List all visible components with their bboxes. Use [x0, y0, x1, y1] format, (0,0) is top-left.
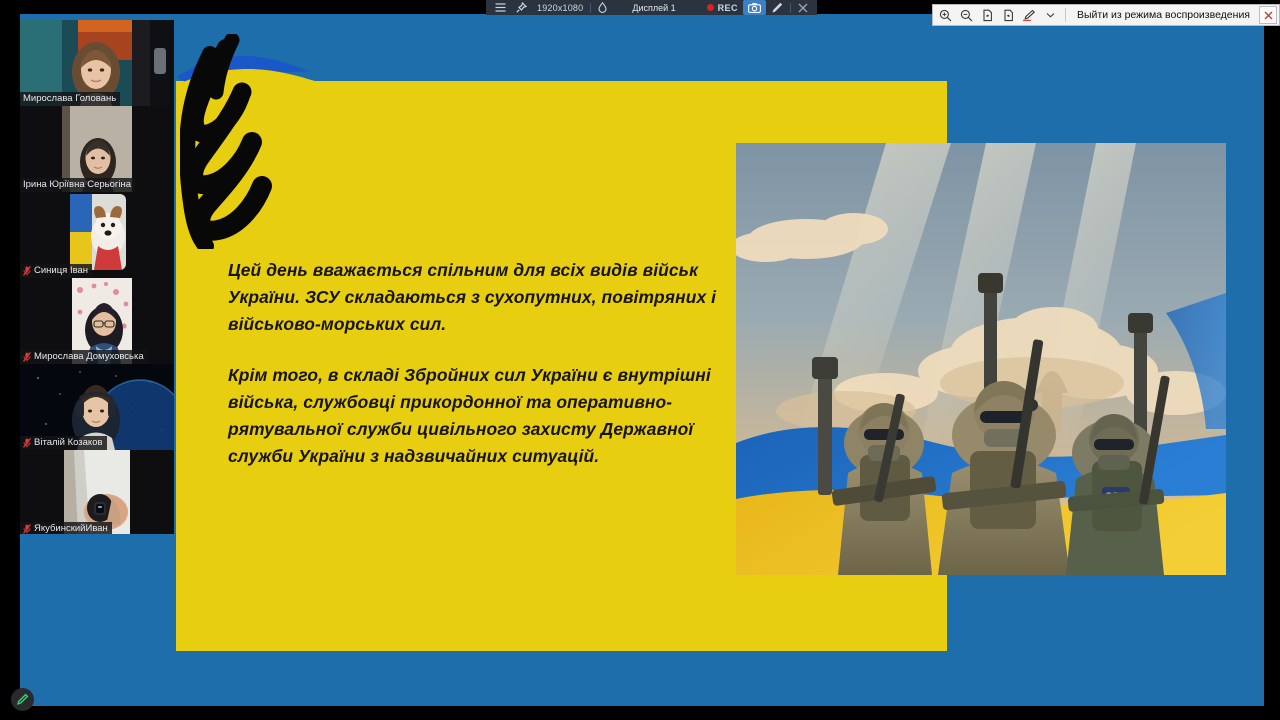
participant-name: Мирослава Домуховська — [34, 351, 144, 363]
participant-tile[interactable]: Ірина Юріївна Серьогіна — [20, 106, 174, 192]
rec-dot-icon — [707, 4, 714, 11]
slide-paragraph-1: Цей день вважається спільним для всіх ви… — [228, 257, 728, 338]
microphone-muted-icon — [23, 438, 31, 448]
participant-namebar: Синиця Іван — [20, 264, 92, 278]
zoom-out-icon[interactable] — [956, 6, 977, 24]
exit-playback-label[interactable]: Выйти из режима воспроизведения — [1070, 9, 1257, 21]
participant-name: Мирослава Головань — [23, 93, 116, 105]
participant-tile[interactable]: ЯкубинскийИван — [20, 450, 174, 534]
participant-tile[interactable]: Мирослава Головань — [20, 20, 174, 106]
toolbar-divider — [590, 3, 591, 13]
screen-capture-toolbar[interactable]: 1920x1080 Дисплей 1 REC — [486, 0, 817, 17]
droplet-icon[interactable] — [593, 0, 612, 15]
participant-name: Синиця Іван — [34, 265, 88, 277]
participant-tile[interactable]: Синиця Іван — [20, 192, 174, 278]
display-label: Дисплей 1 — [612, 3, 701, 13]
toolbar-divider — [790, 3, 791, 13]
capture-resolution-label: 1920x1080 — [532, 0, 588, 15]
shared-screen-area: Цей день вважається спільним для всіх ви… — [20, 14, 1264, 706]
participant-namebar: ЯкубинскийИван — [20, 522, 112, 534]
chevron-down-icon[interactable] — [1040, 6, 1061, 24]
pen-icon — [16, 693, 29, 706]
camera-icon[interactable] — [743, 0, 766, 15]
rec-status[interactable]: REC — [702, 0, 743, 15]
participant-tile[interactable]: Мирослава Домуховська — [20, 278, 174, 364]
participant-name: ЯкубинскийИван — [34, 523, 108, 534]
participant-name: Віталій Козаков — [34, 437, 103, 449]
screen-root: Цей день вважається спільним для всіх ви… — [0, 0, 1280, 720]
rec-label: REC — [718, 3, 738, 13]
participant-namebar: Мирослава Домуховська — [20, 350, 148, 364]
participant-namebar: Мирослава Головань — [20, 92, 120, 106]
slide-paragraph-2: Крім того, в складі Збройних сил України… — [228, 362, 728, 470]
microphone-muted-icon — [23, 524, 31, 534]
hamburger-menu-icon[interactable] — [490, 0, 511, 15]
pin-icon[interactable] — [511, 0, 532, 15]
close-icon[interactable] — [793, 0, 813, 15]
zoom-in-icon[interactable] — [935, 6, 956, 24]
toolbar-divider — [1065, 8, 1066, 22]
microphone-muted-icon — [23, 352, 31, 362]
slide-photo: СБУ — [736, 143, 1226, 575]
participant-tile[interactable]: Віталій Козаков — [20, 364, 174, 450]
playback-toolbar[interactable]: Выйти из режима воспроизведения — [932, 4, 1280, 26]
close-icon[interactable] — [1259, 6, 1277, 24]
participant-filmstrip[interactable]: Мирослава Головань — [20, 20, 174, 534]
participant-namebar: Віталій Козаков — [20, 436, 107, 450]
next-page-icon[interactable] — [998, 6, 1019, 24]
slide-body-text: Цей день вважається спільним для всіх ви… — [228, 257, 728, 470]
participant-namebar: Ірина Юріївна Серьогіна — [20, 178, 135, 192]
previous-page-icon[interactable] — [977, 6, 998, 24]
annotate-button[interactable] — [11, 688, 34, 711]
pen-icon[interactable] — [1019, 6, 1040, 24]
pen-icon[interactable] — [766, 0, 788, 15]
microphone-muted-icon — [23, 266, 31, 276]
participant-name: Ірина Юріївна Серьогіна — [23, 179, 131, 191]
